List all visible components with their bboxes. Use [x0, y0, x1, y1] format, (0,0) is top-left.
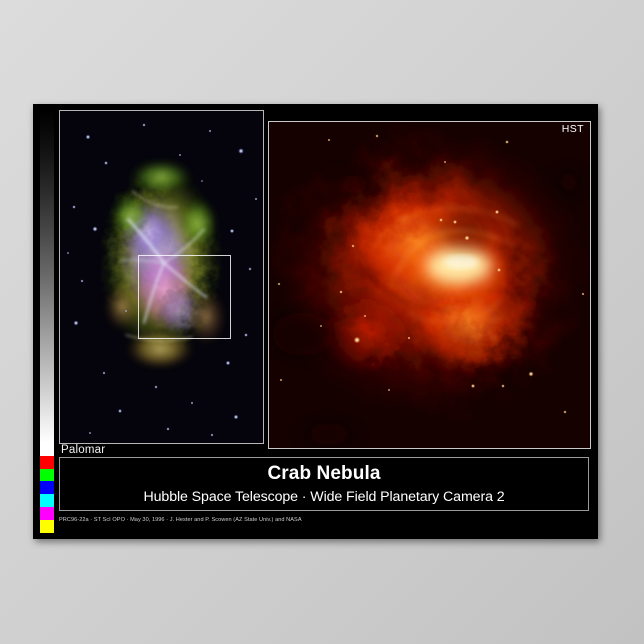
hst-label: HST [562, 123, 584, 135]
credit-line: PRC96-22a · ST ScI OPO · May 30, 1996 · … [59, 517, 302, 523]
swatch-cyan [40, 494, 54, 507]
subtitle: Hubble Space Telescope · Wide Field Plan… [60, 489, 588, 505]
hst-image-panel: HST [268, 121, 591, 449]
swatch-red [40, 456, 54, 469]
swatch-yellow [40, 520, 54, 533]
calibration-color-bar [40, 110, 54, 533]
caption-block: Crab Nebula Hubble Space Telescope · Wid… [59, 457, 589, 511]
poster: Palomar HST [33, 104, 598, 539]
palomar-label: Palomar [61, 444, 105, 456]
hst-nebula-image [269, 122, 590, 448]
swatch-green [40, 469, 54, 482]
swatch-white [40, 443, 54, 456]
grayscale-ramp [40, 110, 54, 443]
swatch-magenta [40, 507, 54, 520]
swatch-blue [40, 481, 54, 494]
palomar-image-panel [59, 110, 264, 444]
page-title: Crab Nebula [60, 463, 588, 485]
hst-field-of-view-box [138, 255, 231, 338]
